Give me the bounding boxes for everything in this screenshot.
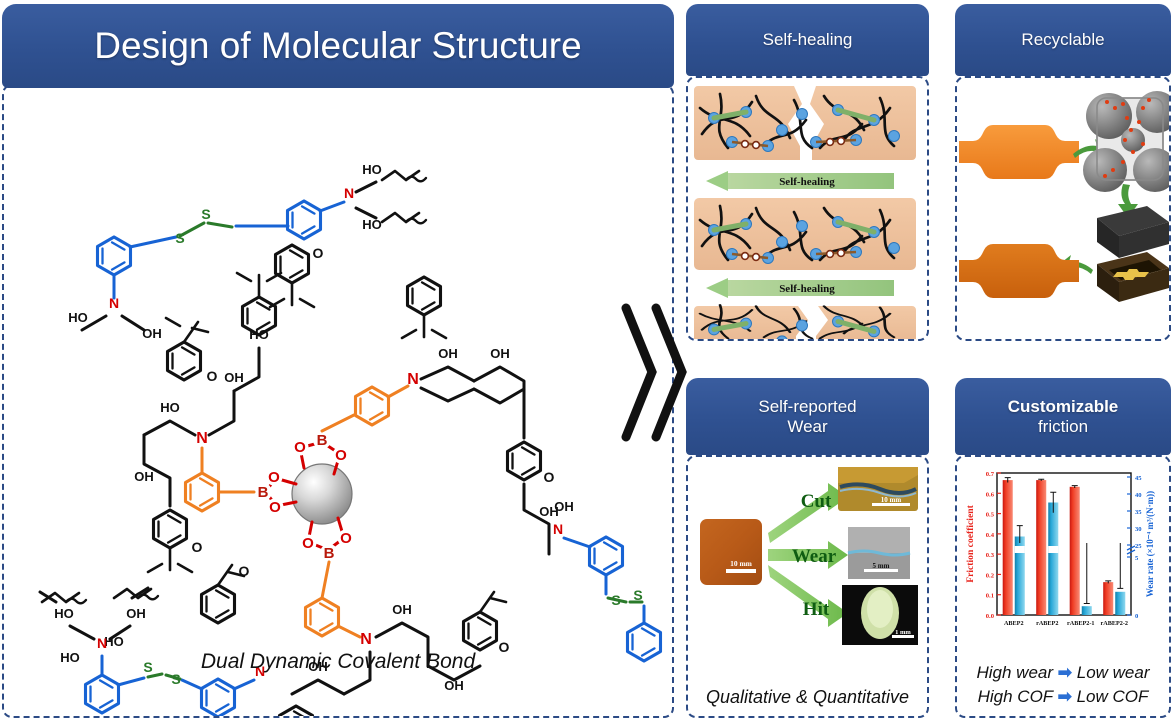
- svg-text:OH: OH: [438, 346, 458, 361]
- svg-text:OH: OH: [126, 606, 146, 621]
- recyclable-header: Recyclable: [955, 4, 1171, 76]
- caption-high-cof: High COF: [978, 687, 1053, 706]
- wear-label: Wear: [792, 546, 837, 567]
- self-healing-panel: Self-healing Self-healing: [686, 76, 929, 341]
- self-healing-stage-healed: [694, 198, 916, 270]
- cut-result-image: 10 mm: [838, 467, 918, 511]
- bar-wear-rate: [1048, 503, 1058, 616]
- disulfide-arm-right: S S N: [553, 521, 661, 661]
- y2-axis-tick-label: 5: [1135, 555, 1139, 562]
- scalebar-label-wear: 5 mm: [873, 562, 890, 570]
- svg-text:S: S: [201, 206, 210, 222]
- svg-text:OH: OH: [224, 370, 244, 385]
- error-bar: [1084, 543, 1090, 603]
- y-axis-label: Friction coefficient: [965, 504, 976, 582]
- svg-text:B: B: [258, 484, 269, 501]
- svg-text:N: N: [97, 635, 107, 651]
- wear-arrow: Wear: [768, 541, 848, 569]
- x-axis-tick-label: rABEP2: [1036, 620, 1058, 627]
- x-axis-tick-label: rABEP2-2: [1101, 620, 1129, 627]
- svg-text:HO: HO: [160, 400, 180, 415]
- svg-text:O: O: [335, 447, 347, 464]
- y-axis-tick-label: 0.7: [986, 471, 995, 478]
- main-panel-caption: Dual Dynamic Covalent Bond: [0, 650, 676, 674]
- customizable-friction-header: Customizable friction: [955, 378, 1171, 455]
- y2-axis-tick-label: 25: [1135, 543, 1142, 550]
- y2-axis-tick-label: 40: [1135, 492, 1142, 499]
- svg-text:HO: HO: [68, 310, 88, 325]
- svg-text:O: O: [313, 245, 324, 261]
- svg-text:O: O: [269, 499, 281, 516]
- sample-original: 10 mm: [700, 519, 762, 585]
- svg-text:N: N: [109, 295, 119, 311]
- recyclable-diagram: [957, 78, 1169, 339]
- wear-result-image: 5 mm: [848, 527, 910, 579]
- svg-text:OH: OH: [142, 326, 162, 341]
- molecule-diagram: O O O O O O B B B: [4, 86, 672, 716]
- svg-text:O: O: [207, 368, 218, 384]
- self-healing-stage-cracked-top: [694, 86, 916, 160]
- y-axis-tick-label: 0.3: [986, 552, 995, 559]
- x-axis-tick-label: ABEP2: [1004, 620, 1024, 627]
- x-axis-tick-label: rABEP2-1: [1067, 620, 1095, 627]
- self-healing-header: Self-healing: [686, 4, 929, 76]
- main-panel-header: Design of Molecular Structure: [2, 4, 674, 88]
- molecular-structure-panel: O O O O O O B B B: [2, 84, 674, 718]
- svg-text:O: O: [544, 469, 555, 485]
- customizable-friction-title-line2: friction: [1038, 417, 1088, 436]
- dogbone-specimen-recycled: [959, 244, 1079, 298]
- wear-process-diagram: 10 mm Cut 10 mm Wear 5 mm: [688, 457, 927, 669]
- self-healing-step-label-2: Self-healing: [779, 283, 835, 295]
- scalebar-label-sample: 10 mm: [730, 559, 753, 568]
- self-reported-wear-header: Self-reported Wear: [686, 378, 929, 455]
- cut-arrow: Cut: [768, 483, 848, 543]
- y2-axis-tick-label: 30: [1135, 526, 1142, 533]
- self-healing-arrow-1: Self-healing: [706, 171, 894, 191]
- caption-low-cof: Low COF: [1077, 687, 1149, 706]
- y2-axis-tick-label: 35: [1135, 509, 1142, 516]
- self-healing-arrow-2: Self-healing: [706, 278, 894, 298]
- scalebar-label-cut: 10 mm: [881, 496, 902, 504]
- svg-text:O: O: [192, 539, 203, 555]
- self-healing-stage-cracked-bottom: [694, 305, 916, 339]
- self-reported-wear-title-line2: Wear: [787, 417, 827, 436]
- customizable-friction-title-line1: Customizable: [1008, 397, 1119, 416]
- y-axis-tick-label: 0.2: [986, 572, 995, 579]
- svg-text:OH: OH: [134, 469, 154, 484]
- hit-label: Hit: [803, 599, 830, 620]
- y-axis-tick-label: 0.1: [986, 593, 994, 600]
- dogbone-specimen-original: [959, 125, 1079, 179]
- caption-arrow-1: ➡: [1058, 663, 1072, 682]
- svg-text:OH: OH: [490, 346, 510, 361]
- self-healing-step-label-1: Self-healing: [779, 176, 835, 188]
- customizable-friction-panel: 0.00.10.20.30.40.50.60.7Friction coeffic…: [955, 455, 1171, 718]
- scalebar-label-hit: 1 mm: [895, 629, 911, 636]
- svg-text:OH: OH: [554, 499, 574, 514]
- bar-friction-coefficient: [1036, 480, 1046, 615]
- self-reported-wear-panel: 10 mm Cut 10 mm Wear 5 mm: [686, 455, 929, 718]
- recyclable-panel: [955, 76, 1171, 341]
- self-reported-wear-caption: Qualitative & Quantitative: [688, 687, 927, 708]
- hit-arrow: Hit: [768, 565, 848, 627]
- self-healing-diagram: Self-healing Self-healing: [688, 78, 927, 339]
- svg-text:O: O: [302, 535, 314, 552]
- svg-text:O: O: [340, 530, 352, 547]
- y-axis-tick-label: 0.5: [986, 512, 995, 519]
- svg-text:N: N: [196, 430, 208, 447]
- y-axis-tick-label: 0.0: [986, 613, 995, 620]
- y2-axis-label: Wear rate (×10⁻⁴ m³/(N·m)): [1145, 491, 1155, 597]
- bar-wear-rate: [1082, 606, 1092, 615]
- svg-text:N: N: [407, 371, 419, 388]
- svg-text:OH: OH: [392, 602, 412, 617]
- y2-axis-tick-label: 0: [1135, 613, 1139, 620]
- bar-friction-coefficient: [1003, 480, 1013, 615]
- recyclable-title: Recyclable: [1021, 30, 1104, 49]
- svg-text:OH: OH: [444, 678, 464, 693]
- customizable-friction-caption: High wear ➡ Low wear High COF ➡ Low COF: [957, 661, 1169, 710]
- svg-text:N: N: [344, 185, 354, 201]
- svg-text:B: B: [317, 432, 328, 449]
- svg-text:N: N: [553, 521, 563, 537]
- hit-result-image: 1 mm: [842, 585, 918, 645]
- svg-text:S: S: [611, 592, 620, 608]
- svg-text:S: S: [175, 230, 184, 246]
- svg-text:B: B: [324, 545, 335, 562]
- svg-text:HO: HO: [362, 162, 382, 177]
- svg-text:O: O: [268, 469, 280, 486]
- friction-wear-bar-chart: 0.00.10.20.30.40.50.60.7Friction coeffic…: [963, 463, 1167, 645]
- page-title: Design of Molecular Structure: [94, 25, 581, 66]
- svg-text:O: O: [239, 563, 250, 579]
- y2-axis-tick-label: 45: [1135, 475, 1142, 482]
- svg-text:HO: HO: [54, 606, 74, 621]
- svg-text:S: S: [633, 587, 642, 603]
- y-axis-tick-label: 0.4: [986, 532, 995, 539]
- svg-text:N: N: [360, 631, 372, 648]
- bar-friction-coefficient: [1103, 582, 1113, 615]
- self-reported-wear-title-line1: Self-reported: [758, 397, 856, 416]
- cut-label: Cut: [801, 491, 832, 512]
- self-healing-title: Self-healing: [763, 30, 853, 49]
- nanoparticle-core: [292, 464, 352, 524]
- error-bar: [1117, 543, 1123, 588]
- svg-text:HO: HO: [362, 217, 382, 232]
- y-axis-tick-label: 0.6: [986, 491, 995, 498]
- bar-friction-coefficient: [1070, 487, 1080, 615]
- caption-low-wear: Low wear: [1077, 663, 1150, 682]
- hot-press-mold: [1097, 206, 1169, 302]
- flow-arrow-icon: [618, 300, 690, 445]
- caption-arrow-2: ➡: [1058, 687, 1072, 706]
- bar-wear-rate: [1115, 592, 1125, 615]
- caption-high-wear: High wear: [976, 663, 1053, 682]
- svg-text:O: O: [294, 439, 306, 456]
